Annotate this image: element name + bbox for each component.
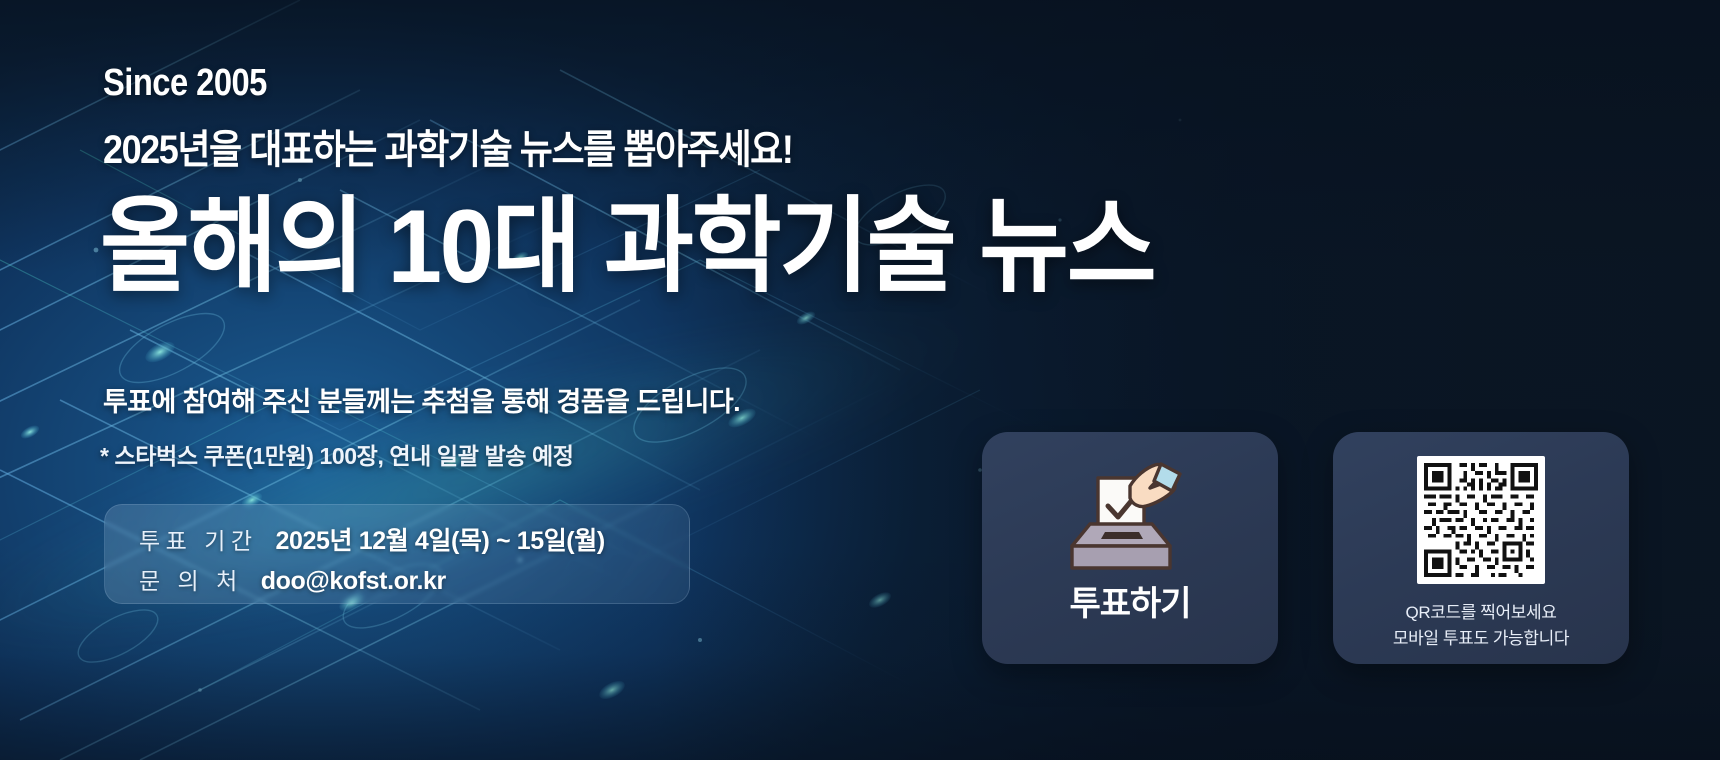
vote-period-label: 투표 기간 [139, 522, 258, 556]
vote-period-value: 2025년 12월 4일(목) ~ 15일(월) [276, 521, 605, 557]
contact-email-value: doo@kofst.or.kr [261, 567, 446, 596]
banner-headline: 올해의 10대 과학기술 뉴스 [100, 189, 1154, 305]
qr-code-icon [1417, 456, 1545, 584]
vote-button-label: 투표하기 [1069, 576, 1190, 625]
prize-note: * 스타벅스 쿠폰(1만원) 100장, 연내 일괄 발송 예정 [100, 437, 573, 471]
qr-caption-line1: QR코드를 찍어보세요 [1393, 600, 1569, 626]
qr-caption: QR코드를 찍어보세요 모바일 투표도 가능합니다 [1393, 600, 1569, 653]
contact-row: 문 의 처 doo@kofst.or.kr [139, 562, 446, 596]
promo-banner: Since 2005 2025년을 대표하는 과학기술 뉴스를 뽑아주세요! 올… [0, 0, 1720, 760]
banner-subtitle: 2025년을 대표하는 과학기술 뉴스를 뽑아주세요! [103, 117, 792, 175]
event-info-box: 투표 기간 2025년 12월 4일(목) ~ 15일(월) 문 의 처 doo… [104, 504, 690, 604]
vote-period-row: 투표 기간 2025년 12월 4일(목) ~ 15일(월) [139, 521, 605, 557]
vote-button-card[interactable]: 투표하기 [982, 432, 1278, 664]
contact-label: 문 의 처 [139, 562, 243, 596]
since-label: Since 2005 [103, 62, 267, 105]
prize-description: 투표에 참여해 주신 분들께는 추첨을 통해 경품을 드립니다. [103, 380, 740, 419]
qr-code-card[interactable]: QR코드를 찍어보세요 모바일 투표도 가능합니다 [1333, 432, 1629, 664]
ballot-box-icon [1060, 452, 1200, 570]
qr-caption-line2: 모바일 투표도 가능합니다 [1393, 626, 1569, 652]
